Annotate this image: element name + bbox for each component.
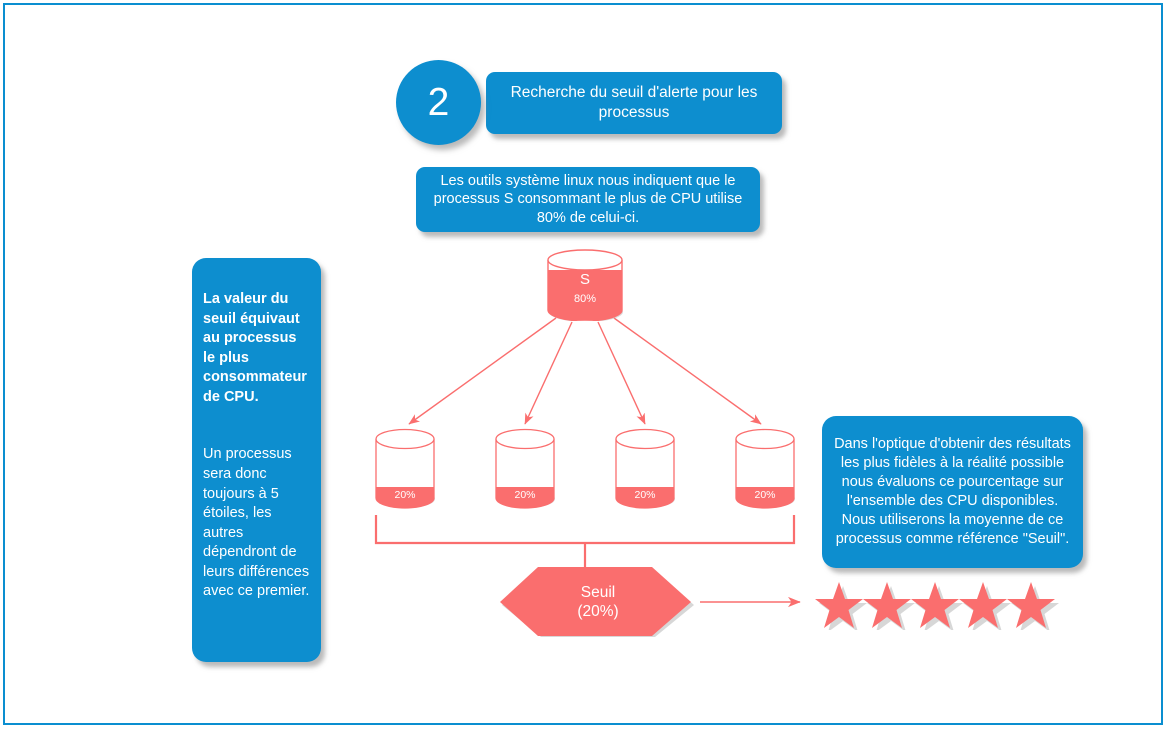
star-icon (863, 582, 915, 630)
hexagon-icon (500, 566, 696, 638)
left-panel-bold-text: La valeur du seuil équivaut au processus… (203, 290, 311, 407)
cpu-cylinder: 20% (494, 428, 556, 510)
star-icon (959, 582, 1011, 630)
step-number-badge: 2 (396, 60, 481, 145)
cylinder-icon (494, 428, 556, 510)
section-title-text: Recherche du seuil d'alerte pour les pro… (498, 83, 770, 123)
cpu-cylinder: 20% (734, 428, 796, 510)
cylinder-icon (614, 428, 676, 510)
step-number-label: 2 (428, 81, 450, 125)
intro-description-text: Les outils système linux nous indiquent … (426, 172, 750, 228)
main-process-cylinder: S 80% (546, 249, 624, 321)
diagram-canvas: 2 Recherche du seuil d'alerte pour les p… (0, 0, 1170, 732)
cylinder-icon (734, 428, 796, 510)
cpu-cylinder: 20% (374, 428, 436, 510)
threshold-hexagon: Seuil (20%) (500, 566, 696, 638)
star-icon (815, 582, 867, 630)
cpu-cylinder: 20% (614, 428, 676, 510)
star-icon (911, 582, 963, 630)
left-panel-normal-text: Un processus sera donc toujours à 5 étoi… (203, 445, 311, 602)
left-explanation-panel: La valeur du seuil équivaut au processus… (192, 258, 321, 662)
right-panel-text: Dans l'optique d'obtenir des résultats l… (832, 435, 1073, 548)
right-explanation-panel: Dans l'optique d'obtenir des résultats l… (822, 416, 1083, 568)
star-icon (1007, 582, 1059, 630)
section-title-box: Recherche du seuil d'alerte pour les pro… (486, 72, 782, 134)
cylinder-icon (374, 428, 436, 510)
main-cylinder-icon (546, 249, 624, 321)
star-rating (812, 576, 1062, 630)
intro-description-box: Les outils système linux nous indiquent … (416, 167, 760, 232)
